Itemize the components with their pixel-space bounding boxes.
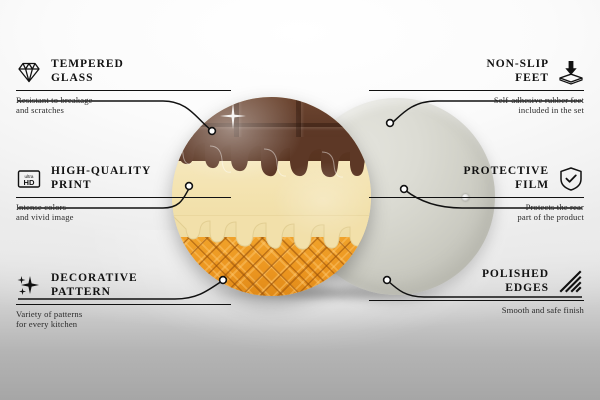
feature-description: Variety of patterns for every kitchen (16, 309, 231, 330)
feature-title: POLISHED EDGES (482, 268, 549, 295)
infographic-canvas: TEMPERED GLASS Resistant to breakage and… (0, 0, 600, 400)
feature-title: NON-SLIP FEET (486, 58, 549, 85)
feature-title: DECORATIVE PATTERN (51, 272, 138, 299)
feature-tempered-glass[interactable]: TEMPERED GLASS Resistant to breakage and… (16, 58, 231, 116)
feature-protective-film[interactable]: PROTECTIVE FILM Protects the rear part o… (369, 165, 584, 223)
press-down-pad-icon (558, 59, 584, 85)
feature-rule (369, 197, 584, 198)
feature-rule (16, 197, 231, 198)
feature-non-slip-feet[interactable]: NON-SLIP FEET Self-adhesive rubber feet … (369, 58, 584, 116)
feature-rule (16, 304, 231, 305)
feature-rule (369, 90, 584, 91)
feature-description: Resistant to breakage and scratches (16, 95, 231, 116)
feature-polished-edges[interactable]: POLISHED EDGES Smooth and safe finish (369, 268, 584, 315)
feature-decorative-pattern[interactable]: DECORATIVE PATTERN Variety of patterns f… (16, 272, 231, 330)
shield-check-icon (558, 166, 584, 192)
feature-title: TEMPERED GLASS (51, 58, 124, 85)
svg-text:HD: HD (24, 177, 35, 186)
feature-description: Intense colors and vivid image (16, 202, 231, 223)
feature-description: Self-adhesive rubber feet included in th… (369, 95, 584, 116)
feature-description: Protects the rear part of the product (369, 202, 584, 223)
feature-high-quality-print[interactable]: ultra HD HIGH-QUALITY PRINT Intense colo… (16, 165, 231, 223)
feature-title: PROTECTIVE FILM (463, 165, 549, 192)
feature-description: Smooth and safe finish (369, 305, 584, 315)
sparkles-icon (16, 273, 42, 299)
feature-title: HIGH-QUALITY PRINT (51, 165, 151, 192)
feature-rule (369, 300, 584, 301)
feature-rule (16, 90, 231, 91)
diamond-icon (16, 59, 42, 85)
ultra-hd-icon: ultra HD (16, 166, 42, 192)
diagonal-stripes-icon (558, 269, 584, 295)
